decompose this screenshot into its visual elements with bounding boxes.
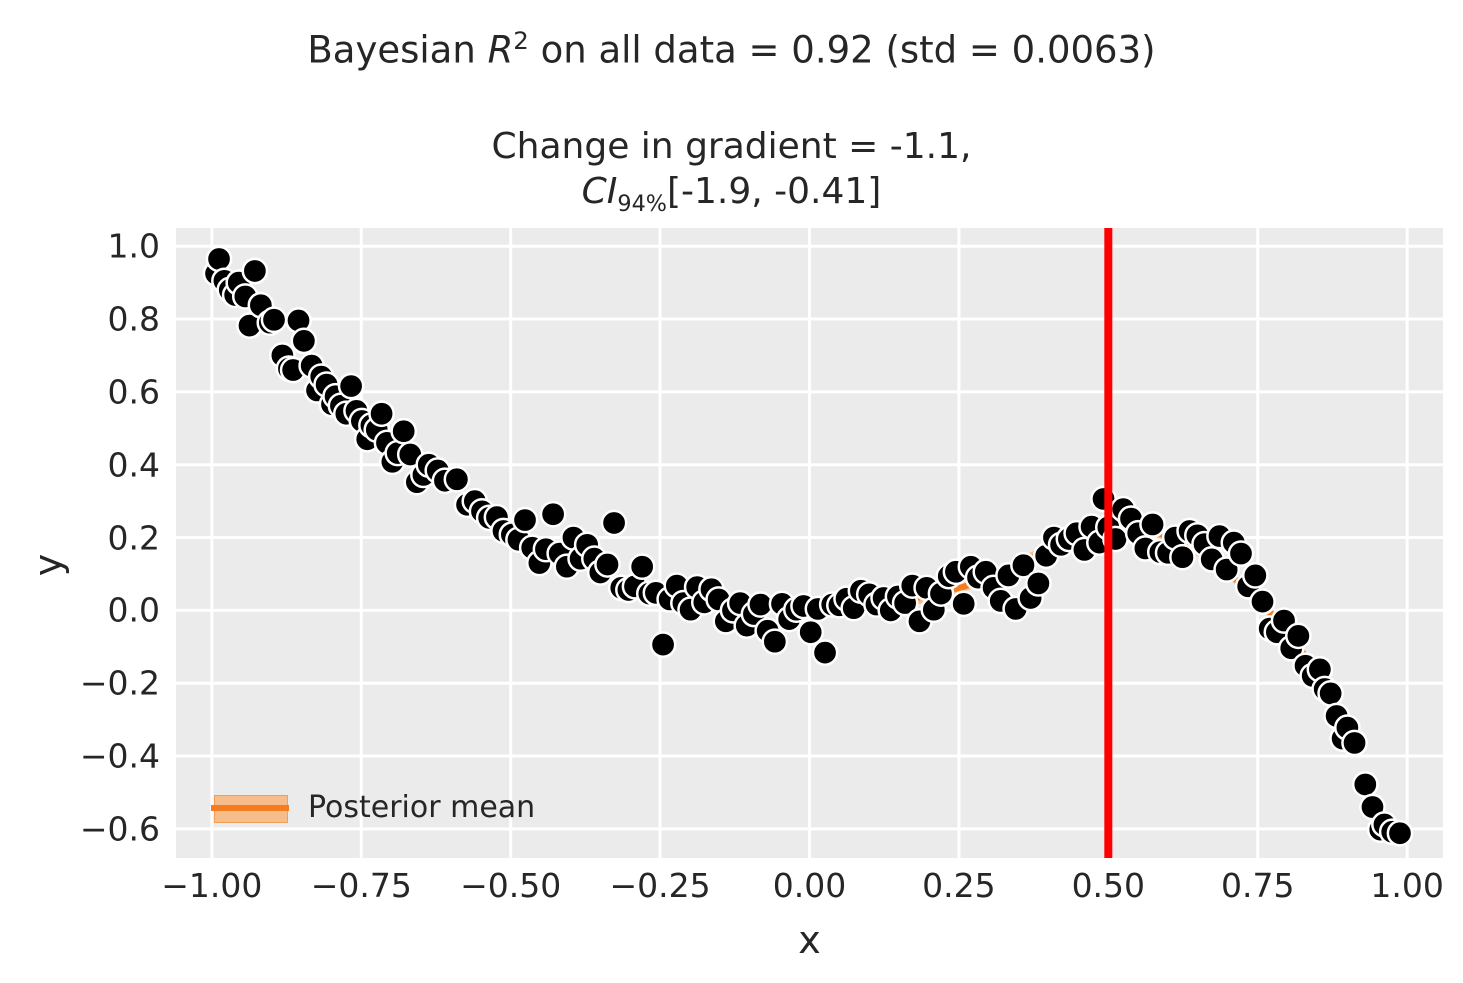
scatter-point bbox=[541, 502, 565, 526]
legend-line-icon bbox=[211, 805, 289, 811]
scatter-point bbox=[262, 308, 286, 332]
y-tick-label: −0.4 bbox=[0, 737, 160, 776]
figure-suptitle: Bayesian R2 on all data = 0.92 (std = 0.… bbox=[0, 18, 1463, 73]
scatter-point bbox=[813, 641, 837, 665]
scatter-point bbox=[513, 508, 537, 532]
y-tick-label: 0.2 bbox=[0, 518, 160, 557]
scatter-point bbox=[1286, 624, 1310, 648]
axes-title-line1: Change in gradient = -1.1, bbox=[0, 124, 1463, 169]
scatter-point bbox=[1319, 681, 1343, 705]
scatter-point bbox=[1243, 563, 1267, 587]
scatter-point bbox=[1026, 571, 1050, 595]
x-tick-label: −0.25 bbox=[580, 866, 740, 905]
scatter-point bbox=[952, 592, 976, 616]
x-tick-label: 0.25 bbox=[879, 866, 1039, 905]
suptitle-exponent: 2 bbox=[513, 26, 529, 55]
x-tick-label: −1.00 bbox=[132, 866, 292, 905]
scatter-point bbox=[445, 467, 469, 491]
scatter-point bbox=[1250, 590, 1274, 614]
scatter-point bbox=[292, 329, 316, 353]
y-tick-label: 0.4 bbox=[0, 445, 160, 484]
x-tick-label: −0.75 bbox=[281, 866, 441, 905]
legend[interactable]: Posterior mean bbox=[204, 784, 545, 831]
suptitle-prefix: Bayesian bbox=[307, 28, 487, 71]
data-layer bbox=[176, 228, 1443, 858]
x-tick-label: 0.50 bbox=[1028, 866, 1188, 905]
y-tick-label: −0.2 bbox=[0, 664, 160, 703]
figure-canvas: Bayesian R2 on all data = 0.92 (std = 0.… bbox=[0, 0, 1463, 983]
legend-swatch-posterior-mean bbox=[214, 795, 286, 821]
scatter-point bbox=[1140, 512, 1164, 536]
scatter-point bbox=[1353, 772, 1377, 796]
ci-symbol: CI bbox=[582, 171, 618, 212]
x-tick-label: 0.75 bbox=[1178, 866, 1338, 905]
x-tick-label: −0.50 bbox=[431, 866, 591, 905]
suptitle-r-symbol: R bbox=[488, 28, 514, 71]
scatter-points bbox=[204, 247, 1412, 845]
x-tick-label: 1.00 bbox=[1327, 866, 1463, 905]
scatter-point bbox=[595, 552, 619, 576]
y-tick-label: −0.6 bbox=[0, 809, 160, 848]
axes-title: Change in gradient = -1.1, CI94%[-1.9, -… bbox=[0, 124, 1463, 227]
scatter-point bbox=[1170, 545, 1194, 569]
scatter-point bbox=[1229, 541, 1253, 565]
y-tick-label: 1.0 bbox=[0, 227, 160, 266]
plot-area: Posterior mean bbox=[176, 228, 1443, 858]
scatter-point bbox=[392, 419, 416, 443]
suptitle-suffix: on all data = 0.92 (std = 0.0063) bbox=[529, 28, 1156, 71]
scatter-point bbox=[1342, 731, 1366, 755]
scatter-point bbox=[243, 259, 267, 283]
legend-label-posterior-mean: Posterior mean bbox=[308, 790, 535, 825]
x-axis-label: x bbox=[176, 918, 1443, 962]
y-tick-label: 0.8 bbox=[0, 300, 160, 339]
y-tick-label: 0.6 bbox=[0, 372, 160, 411]
scatter-point bbox=[1388, 821, 1412, 845]
scatter-point bbox=[763, 630, 787, 654]
scatter-point bbox=[651, 633, 675, 657]
ci-level: 94% bbox=[617, 191, 667, 217]
axes-title-line2: CI94%[-1.9, -0.41] bbox=[0, 169, 1463, 227]
scatter-point bbox=[602, 511, 626, 535]
scatter-point bbox=[207, 247, 231, 271]
scatter-point bbox=[630, 555, 654, 579]
ci-interval: [-1.9, -0.41] bbox=[667, 171, 881, 212]
scatter-point bbox=[369, 402, 393, 426]
x-tick-label: 0.00 bbox=[730, 866, 890, 905]
scatter-point bbox=[339, 374, 363, 398]
y-tick-label: 0.0 bbox=[0, 591, 160, 630]
